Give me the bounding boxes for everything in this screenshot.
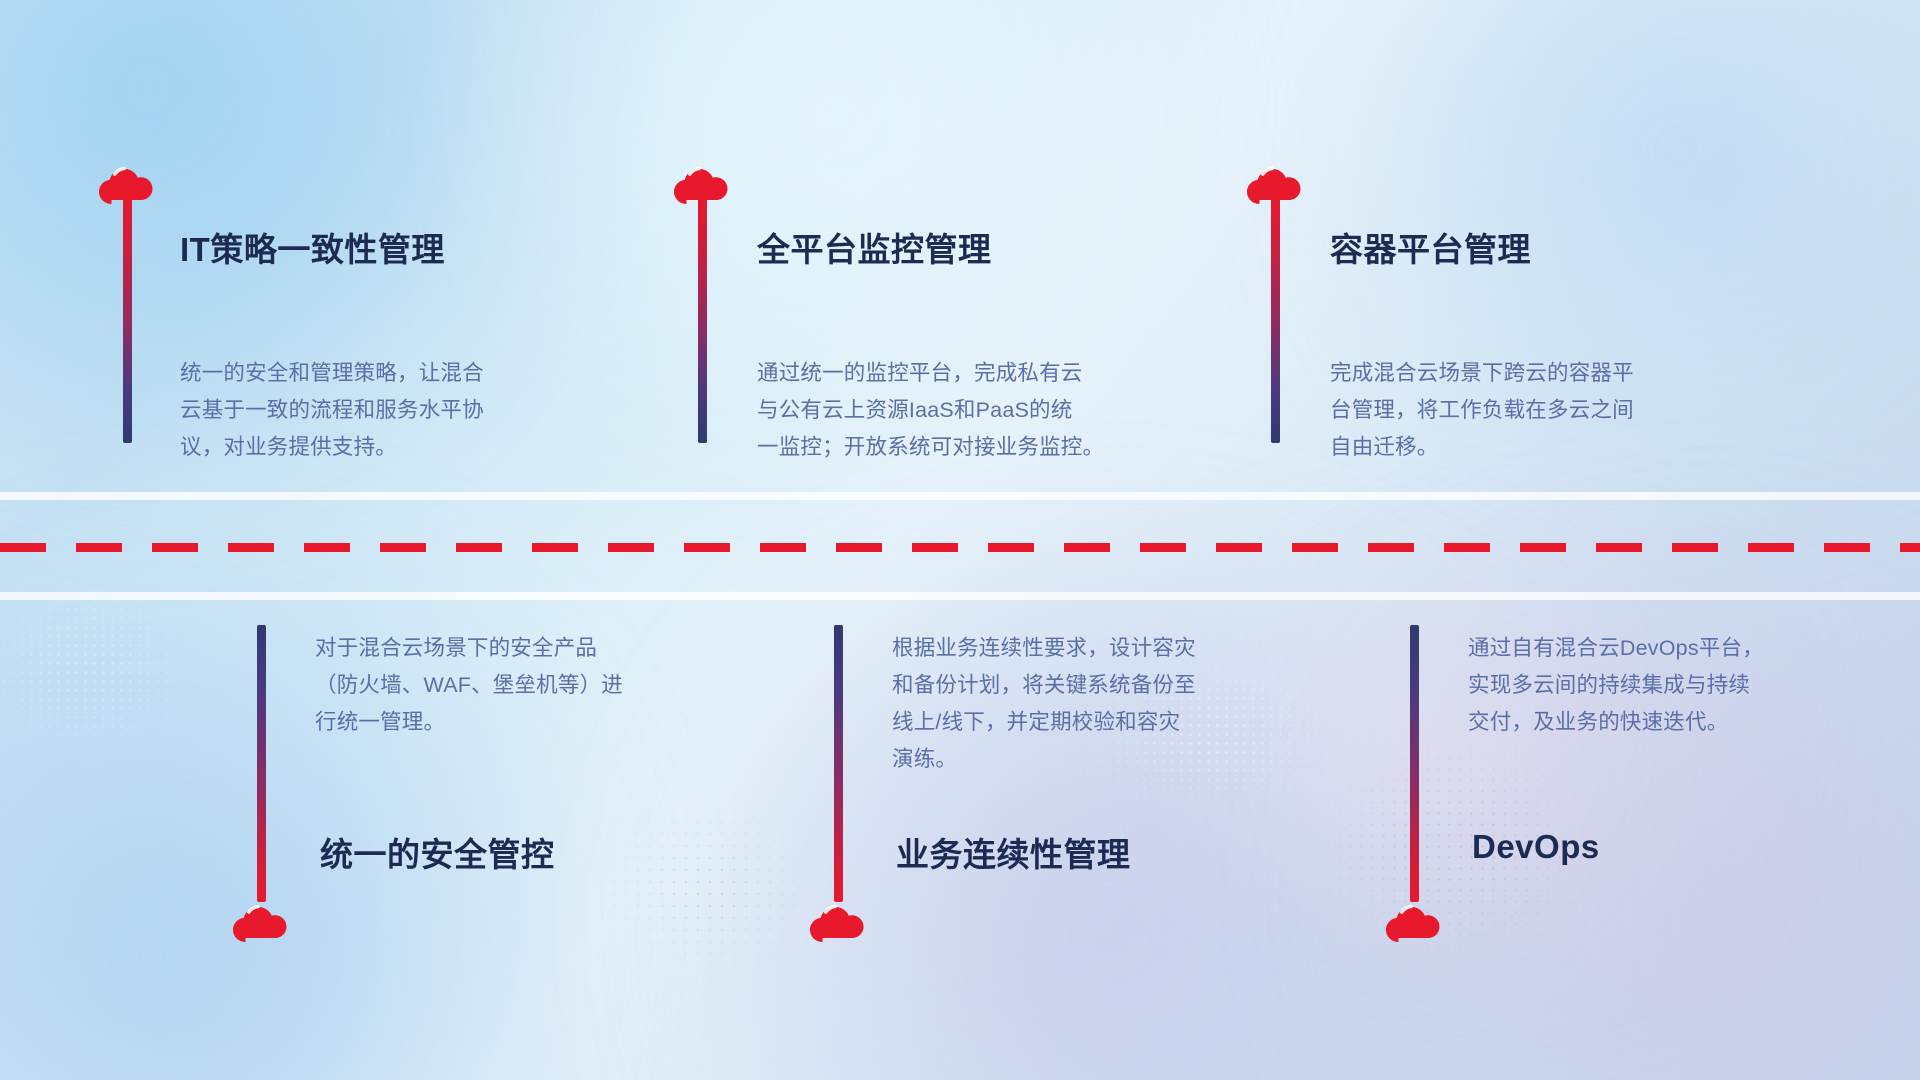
description-line: 通过统一的监控平台，完成私有云	[757, 355, 1137, 392]
timeline-stem	[1410, 625, 1419, 902]
item-title: 统一的安全管控	[320, 828, 555, 876]
description-line: 一监控；开放系统可对接业务监控。	[757, 429, 1137, 466]
cloud-icon	[1384, 898, 1446, 942]
description-line: 线上/线下，并定期校验和容灾	[892, 704, 1292, 741]
item-description: 对于混合云场景下的安全产品 （防火墙、WAF、堡垒机等）进 行统一管理。	[315, 630, 715, 741]
cloud-icon	[808, 898, 870, 942]
item-description: 根据业务连续性要求，设计容灾 和备份计划，将关键系统备份至 线上/线下，并定期校…	[892, 630, 1292, 778]
description-line: 完成混合云场景下跨云的容器平	[1330, 355, 1690, 392]
description-line: 和备份计划，将关键系统备份至	[892, 667, 1292, 704]
description-line: 通过自有混合云DevOps平台，	[1468, 630, 1868, 667]
timeline-stem	[698, 198, 707, 443]
description-line: 台管理，将工作负载在多云之间	[1330, 392, 1690, 429]
description-line: 交付，及业务的快速迭代。	[1468, 704, 1868, 741]
cloud-icon	[231, 898, 293, 942]
description-line: 统一的安全和管理策略，让混合	[180, 355, 540, 392]
item-title: 全平台监控管理	[757, 223, 992, 271]
item-title: IT策略一致性管理	[180, 223, 445, 271]
item-description: 完成混合云场景下跨云的容器平 台管理，将工作负载在多云之间 自由迁移。	[1330, 355, 1690, 466]
timeline-rail-upper	[0, 492, 1920, 500]
timeline-rail-lower	[0, 592, 1920, 600]
infographic-canvas: IT策略一致性管理 统一的安全和管理策略，让混合 云基于一致的流程和服务水平协 …	[0, 0, 1920, 1080]
background-speckle	[560, 780, 860, 1000]
item-title: 容器平台管理	[1330, 223, 1531, 271]
description-line: 演练。	[892, 741, 1292, 778]
description-line: 自由迁移。	[1330, 429, 1690, 466]
item-description: 通过统一的监控平台，完成私有云 与公有云上资源IaaS和PaaS的统 一监控；开…	[757, 355, 1137, 466]
item-description: 通过自有混合云DevOps平台， 实现多云间的持续集成与持续 交付，及业务的快速…	[1468, 630, 1868, 741]
description-line: 议，对业务提供支持。	[180, 429, 540, 466]
description-line: 行统一管理。	[315, 704, 715, 741]
item-title: 业务连续性管理	[896, 828, 1131, 876]
timeline-stem	[1271, 198, 1280, 443]
description-line: 与公有云上资源IaaS和PaaS的统	[757, 392, 1137, 429]
description-line: 对于混合云场景下的安全产品	[315, 630, 715, 667]
timeline-stem	[257, 625, 266, 902]
timeline-dashed-axis	[0, 543, 1920, 552]
item-description: 统一的安全和管理策略，让混合 云基于一致的流程和服务水平协 议，对业务提供支持。	[180, 355, 540, 466]
description-line: 根据业务连续性要求，设计容灾	[892, 630, 1292, 667]
description-line: （防火墙、WAF、堡垒机等）进	[315, 667, 715, 704]
timeline-stem	[834, 625, 843, 902]
description-line: 实现多云间的持续集成与持续	[1468, 667, 1868, 704]
item-title: DevOps	[1472, 828, 1600, 866]
description-line: 云基于一致的流程和服务水平协	[180, 392, 540, 429]
dashed-line	[0, 543, 1920, 552]
timeline-stem	[123, 198, 132, 443]
